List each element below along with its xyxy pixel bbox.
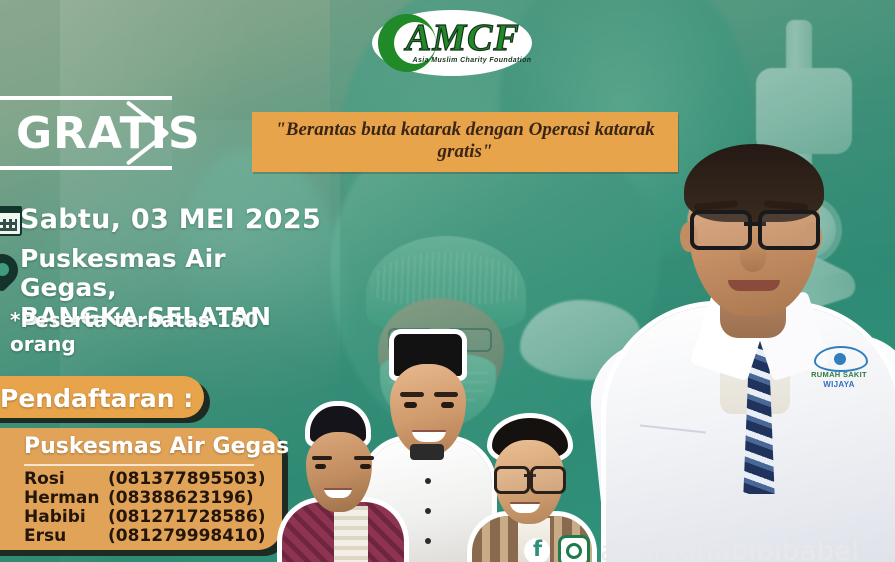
logo-initials: AMCF — [406, 18, 536, 58]
registration-heading-label: Pendaftaran : — [0, 384, 193, 413]
registration-contact-card: Puskesmas Air Gegas Rosi (081377895503) … — [0, 428, 282, 550]
man-left-photo — [288, 406, 398, 562]
gratis-label: GRATIS — [16, 108, 201, 159]
contact-phone: (081377895503) — [108, 470, 274, 489]
calendar-icon — [0, 206, 22, 236]
contact-list: Rosi (081377895503) Herman (08388623196)… — [24, 470, 274, 546]
location-pin-icon — [0, 254, 20, 292]
contact-name: Herman — [24, 489, 108, 508]
facebook-icon[interactable] — [524, 538, 550, 562]
list-item[interactable]: Ersu (081279998410) — [24, 527, 274, 546]
contact-phone: (081271728586) — [108, 508, 274, 527]
hospital-badge-line1: RUMAH SAKIT — [802, 370, 876, 379]
three-men-photo-group — [288, 332, 588, 562]
gratis-badge: GRATIS — [0, 96, 172, 170]
list-item[interactable]: Rosi (081377895503) — [24, 470, 274, 489]
venue-name: Puskesmas Air Gegas, — [20, 244, 320, 302]
contact-phone: (081279998410) — [108, 527, 274, 546]
participant-note: *Peserta terbatas 150 orang — [10, 308, 330, 356]
poster-canvas: AMCF Asia Muslim Charity Foundation GRAT… — [0, 0, 895, 562]
eye-logo-icon — [814, 346, 868, 372]
doctor-glasses-icon — [690, 210, 820, 244]
social-handle-bar: ahmadhabibibabel — [524, 538, 895, 562]
contact-name: Rosi — [24, 470, 108, 489]
card-divider — [24, 464, 254, 466]
hospital-badge-line2: WIJAYA — [802, 380, 876, 389]
amcf-logo: AMCF Asia Muslim Charity Foundation — [372, 8, 542, 80]
eyeglasses-icon — [494, 466, 566, 490]
contact-name: Habibi — [24, 508, 108, 527]
registration-place: Puskesmas Air Gegas — [24, 434, 289, 459]
instagram-icon[interactable] — [558, 535, 590, 562]
doctor-photo: RUMAH SAKIT WIJAYA — [600, 128, 895, 562]
registration-heading-pill: Pendaftaran : — [0, 376, 204, 418]
event-date: Sabtu, 03 MEI 2025 — [20, 204, 321, 235]
contact-phone: (08388623196) — [108, 489, 274, 508]
list-item[interactable]: Herman (08388623196) — [24, 489, 274, 508]
list-item[interactable]: Habibi (081271728586) — [24, 508, 274, 527]
hospital-badge: RUMAH SAKIT WIJAYA — [802, 346, 876, 398]
logo-subtitle: Asia Muslim Charity Foundation — [410, 57, 534, 64]
social-handle-text: ahmadhabibibabel — [600, 536, 860, 562]
contact-name: Ersu — [24, 527, 108, 546]
